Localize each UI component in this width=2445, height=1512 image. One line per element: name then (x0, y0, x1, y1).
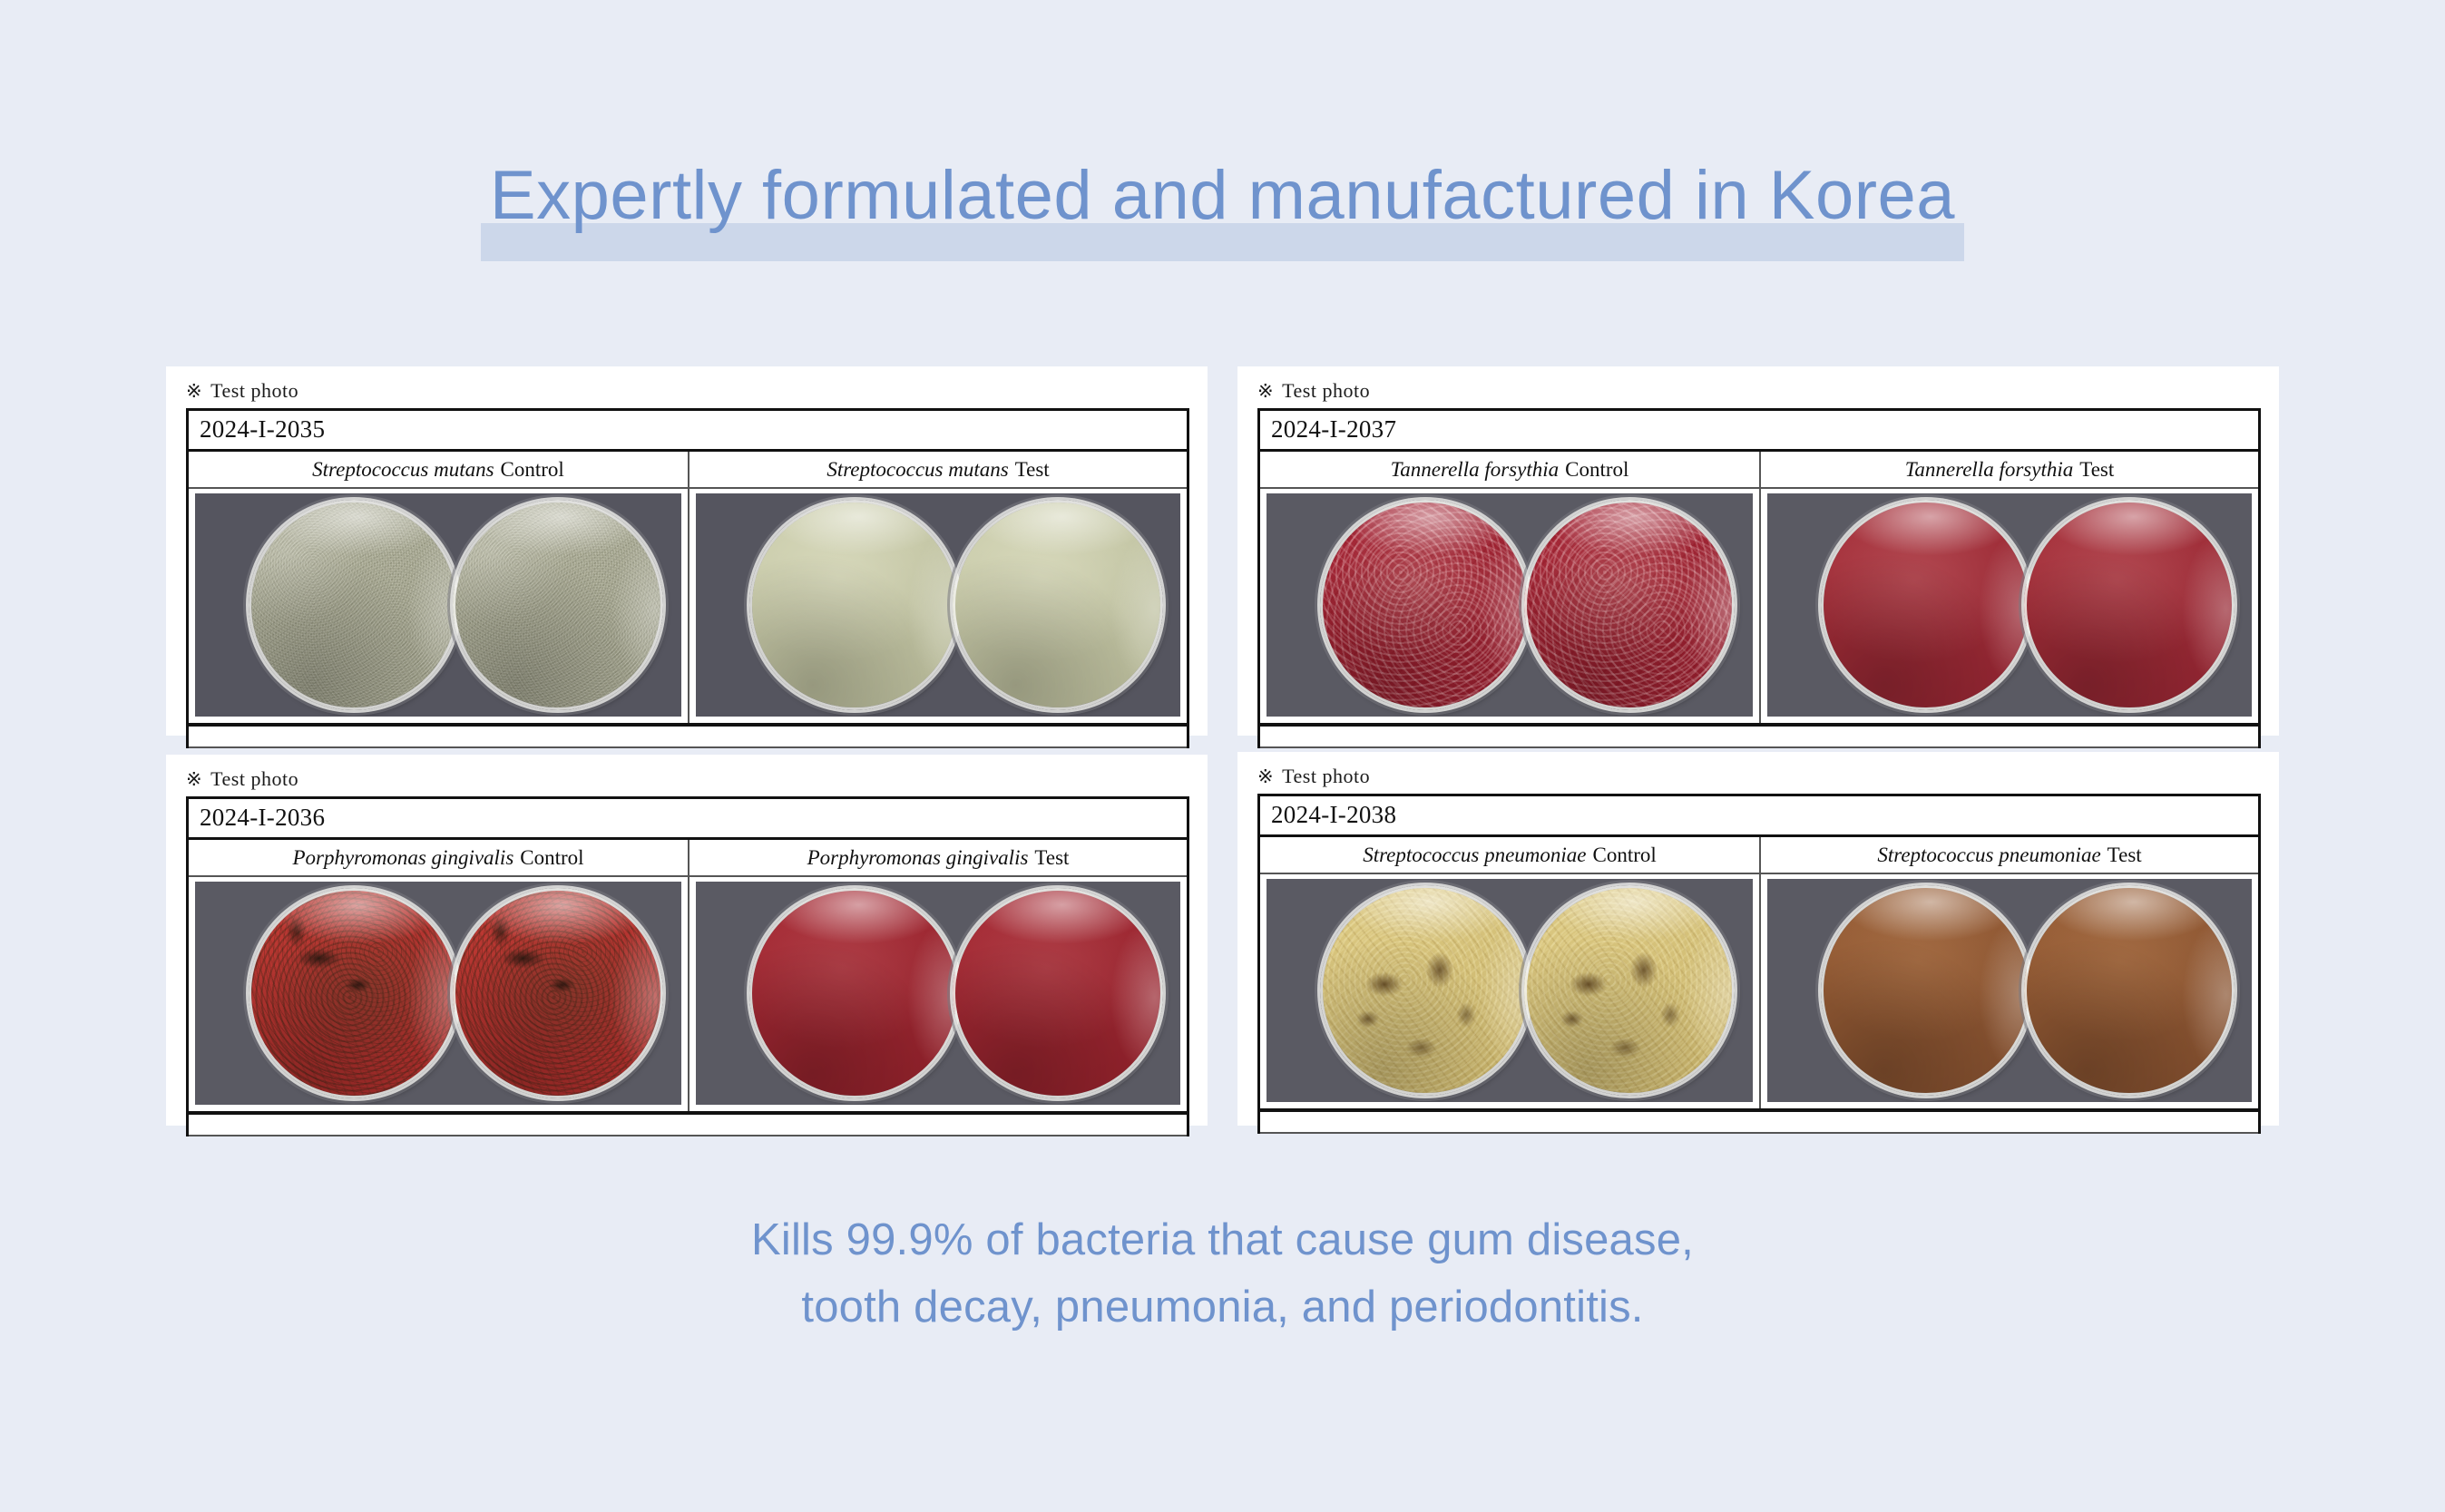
petri-dish (1821, 500, 2031, 710)
petri-dish-photo-control (195, 493, 681, 717)
condition-label: Test (2108, 844, 2142, 866)
species-name: Streptococcus pneumoniae (1877, 844, 2100, 866)
photo-caption-heading: ※Test photo (1237, 752, 2279, 794)
reference-mark-icon: ※ (186, 768, 202, 790)
test-photo-panel-2024-I-2037: ※Test photo 2024-I-2037 Tannerella forsy… (1237, 366, 2279, 736)
photo-cell-control (1260, 489, 1759, 723)
petri-dish-photo-control (1267, 493, 1753, 717)
petri-dish-photo-test (696, 882, 1180, 1105)
caption-line-1: Kills 99.9% of bacteria that cause gum d… (0, 1206, 2445, 1273)
sample-id: 2024-I-2037 (1260, 411, 2258, 452)
test-photo-panel-grid: ※Test photo 2024-I-2035 Streptococcus mu… (166, 366, 2279, 1126)
reference-mark-icon: ※ (186, 380, 202, 402)
petri-dish (2024, 885, 2235, 1096)
result-table: 2024-I-2038 Streptococcus pneumoniaeCont… (1257, 794, 2261, 1134)
result-table: 2024-I-2036 Porphyromonas gingivalisCont… (186, 796, 1189, 1136)
agar-surface (1323, 888, 1528, 1093)
petri-dish (1524, 500, 1735, 710)
condition-label: Test (1034, 846, 1069, 869)
petri-dish-photo-test (1767, 493, 2252, 717)
column-header-row: Porphyromonas gingivalisControl Porphyro… (189, 840, 1187, 877)
petri-dish (453, 888, 663, 1098)
agar-surface (1323, 502, 1528, 707)
marketing-caption: Kills 99.9% of bacteria that cause gum d… (0, 1206, 2445, 1341)
petri-dish (1524, 885, 1735, 1096)
column-header-test: Tannerella forsythiaTest (1759, 452, 2258, 487)
sample-id: 2024-I-2035 (189, 411, 1187, 452)
species-name: Streptococcus mutans (826, 458, 1008, 481)
agar-surface (455, 891, 660, 1096)
table-row-partial (1260, 1112, 2258, 1134)
photo-cell-control (1260, 874, 1759, 1108)
petri-dish-photo-control (1267, 879, 1753, 1102)
photo-caption-heading: ※Test photo (166, 755, 1208, 796)
agar-surface (955, 502, 1160, 707)
petri-dish-photo-test (696, 493, 1180, 717)
page-title-text: Expertly formulated and manufactured in … (490, 157, 1955, 234)
column-header-test: Porphyromonas gingivalisTest (688, 840, 1187, 875)
petri-dish (749, 888, 960, 1098)
petri-dish (453, 500, 663, 710)
petri-dish-photo-control (195, 882, 681, 1105)
condition-label: Control (520, 846, 583, 869)
agar-surface (752, 502, 957, 707)
test-photo-panel-2024-I-2038: ※Test photo 2024-I-2038 Streptococcus pn… (1237, 752, 2279, 1126)
sample-id: 2024-I-2036 (189, 799, 1187, 840)
photo-caption-label: Test photo (210, 767, 298, 790)
petri-dish (1320, 885, 1531, 1096)
photo-cell-control (189, 489, 688, 723)
petri-dish (1320, 500, 1531, 710)
condition-label: Control (1593, 844, 1657, 866)
condition-label: Control (501, 458, 564, 481)
agar-surface (1824, 502, 2029, 707)
result-table: 2024-I-2037 Tannerella forsythiaControl … (1257, 408, 2261, 748)
agar-surface (1527, 502, 1732, 707)
condition-label: Test (2079, 458, 2114, 481)
column-header-row: Streptococcus mutansControl Streptococcu… (189, 452, 1187, 489)
agar-surface (251, 502, 456, 707)
column-header-test: Streptococcus mutansTest (688, 452, 1187, 487)
species-name: Tannerella forsythia (1905, 458, 2074, 481)
agar-surface (251, 891, 456, 1096)
photo-row (1260, 489, 2258, 727)
species-name: Streptococcus mutans (312, 458, 494, 481)
column-header-control: Streptococcus pneumoniaeControl (1260, 837, 1759, 873)
photo-cell-test (688, 489, 1187, 723)
reference-mark-icon: ※ (1257, 380, 1274, 402)
table-row-partial (189, 1115, 1187, 1136)
column-header-control: Streptococcus mutansControl (189, 452, 688, 487)
condition-label: Control (1565, 458, 1628, 481)
agar-surface (2027, 888, 2232, 1093)
column-header-control: Tannerella forsythiaControl (1260, 452, 1759, 487)
agar-surface (752, 891, 957, 1096)
agar-surface (2027, 502, 2232, 707)
test-photo-panel-2024-I-2035: ※Test photo 2024-I-2035 Streptococcus mu… (166, 366, 1208, 736)
page-title: Expertly formulated and manufactured in … (0, 152, 2445, 239)
photo-caption-label: Test photo (210, 379, 298, 402)
photo-caption-label: Test photo (1282, 765, 1370, 787)
agar-surface (1527, 888, 1732, 1093)
table-row-partial (189, 727, 1187, 748)
sample-id: 2024-I-2038 (1260, 796, 2258, 837)
photo-row (189, 489, 1187, 727)
table-row-partial (1260, 727, 2258, 748)
column-header-control: Porphyromonas gingivalisControl (189, 840, 688, 875)
petri-dish-photo-test (1767, 879, 2252, 1102)
condition-label: Test (1015, 458, 1050, 481)
photo-cell-test (1759, 489, 2258, 723)
petri-dish (953, 888, 1163, 1098)
species-name: Streptococcus pneumoniae (1363, 844, 1586, 866)
photo-caption-label: Test photo (1282, 379, 1370, 402)
petri-dish (249, 888, 459, 1098)
photo-cell-test (1759, 874, 2258, 1108)
species-name: Tannerella forsythia (1391, 458, 1560, 481)
column-header-row: Tannerella forsythiaControl Tannerella f… (1260, 452, 2258, 489)
column-header-test: Streptococcus pneumoniaeTest (1759, 837, 2258, 873)
reference-mark-icon: ※ (1257, 766, 1274, 787)
agar-surface (955, 891, 1160, 1096)
petri-dish (749, 500, 960, 710)
petri-dish (953, 500, 1163, 710)
species-name: Porphyromonas gingivalis (807, 846, 1029, 869)
photo-cell-test (688, 877, 1187, 1111)
photo-row (189, 877, 1187, 1115)
species-name: Porphyromonas gingivalis (292, 846, 513, 869)
agar-surface (455, 502, 660, 707)
agar-surface (1824, 888, 2029, 1093)
photo-caption-heading: ※Test photo (166, 366, 1208, 408)
photo-caption-heading: ※Test photo (1237, 366, 2279, 408)
photo-row (1260, 874, 2258, 1112)
result-table: 2024-I-2035 Streptococcus mutansControl … (186, 408, 1189, 748)
petri-dish (249, 500, 459, 710)
petri-dish (2024, 500, 2235, 710)
caption-line-2: tooth decay, pneumonia, and periodontiti… (0, 1273, 2445, 1341)
column-header-row: Streptococcus pneumoniaeControl Streptoc… (1260, 837, 2258, 874)
photo-cell-control (189, 877, 688, 1111)
test-photo-panel-2024-I-2036: ※Test photo 2024-I-2036 Porphyromonas gi… (166, 755, 1208, 1126)
petri-dish (1821, 885, 2031, 1096)
